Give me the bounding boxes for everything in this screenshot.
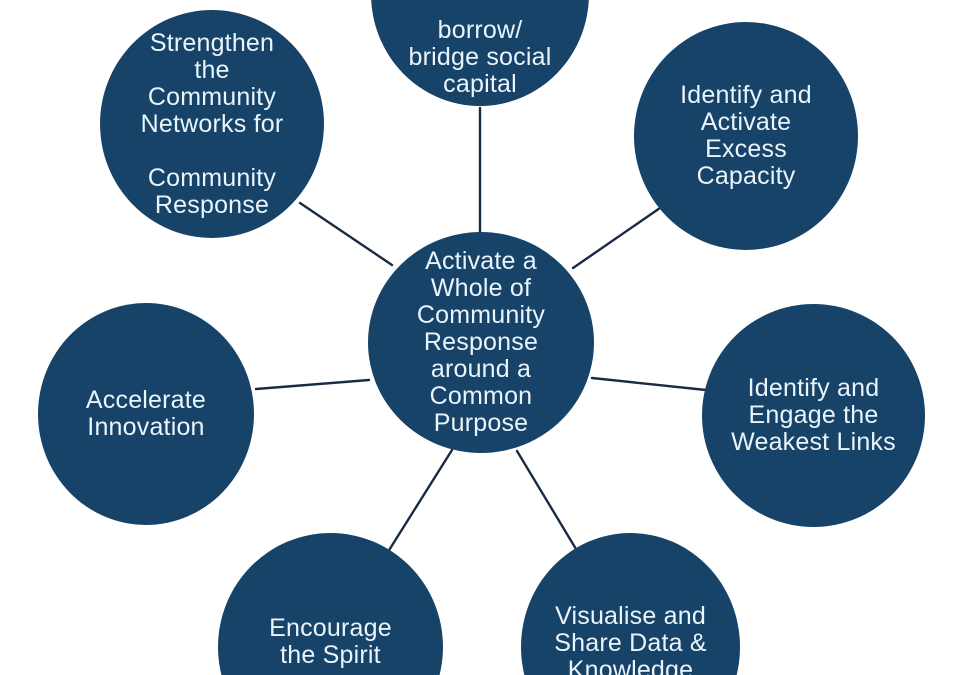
node-bottomright-label: Visualise and Share Data & Knowledge: [525, 603, 735, 675]
connector-hub-bottomright: [517, 451, 576, 549]
connector-hub-bottomleft: [386, 450, 452, 555]
node-top-label: borrow/ bridge social capital: [375, 17, 584, 98]
connector-hub-left: [256, 380, 369, 389]
connector-hub-right: [592, 378, 706, 390]
node-strengthen-community-networks[interactable]: Strengthen the Community Networks for Co…: [100, 10, 324, 238]
node-right-label: Identify and Engage the Weakest Links: [706, 375, 920, 456]
node-borrow-bridge-social-capital[interactable]: borrow/ bridge social capital: [371, 0, 589, 106]
node-accelerate-innovation[interactable]: Accelerate Innovation: [38, 303, 254, 525]
node-bottomleft-label: Encourage the Spirit: [223, 615, 439, 669]
node-topright-label: Identify and Activate Excess Capacity: [638, 82, 853, 190]
node-identify-activate-excess-capacity[interactable]: Identify and Activate Excess Capacity: [634, 22, 858, 250]
node-left-label: Accelerate Innovation: [42, 387, 249, 441]
node-identify-engage-weakest-links[interactable]: Identify and Engage the Weakest Links: [702, 304, 925, 527]
diagram-canvas: Activate a Whole of Community Response a…: [0, 0, 971, 675]
node-hub-label: Activate a Whole of Community Response a…: [373, 248, 590, 437]
node-topleft-label: Strengthen the Community Networks for Co…: [104, 30, 319, 219]
node-hub[interactable]: Activate a Whole of Community Response a…: [368, 232, 594, 453]
